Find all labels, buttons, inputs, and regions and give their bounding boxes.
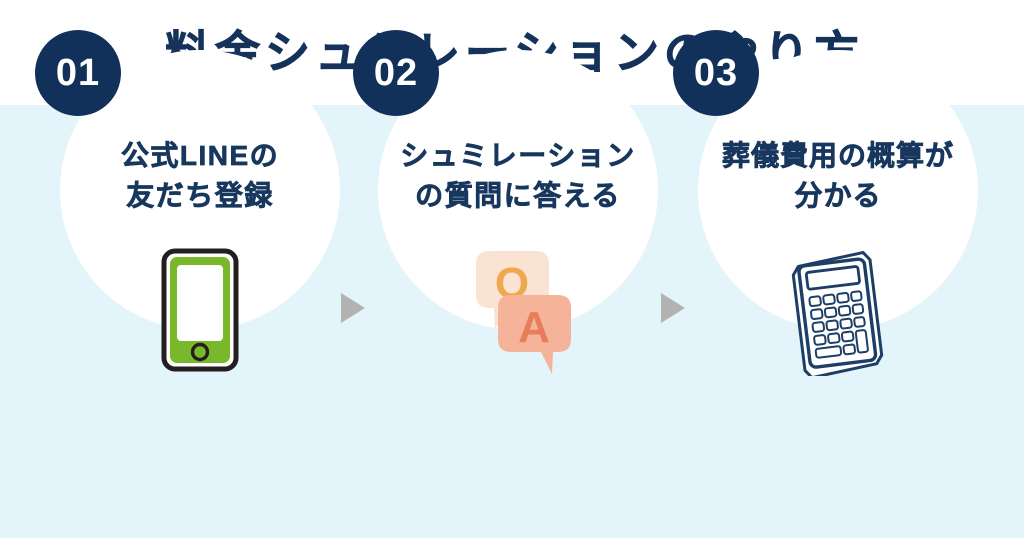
step-number-badge: 01 (35, 30, 121, 116)
step-label: 葬儀費用の概算が 分かる (682, 136, 994, 216)
step-card-02: Q A 02 シュミレーション の質問に答える (378, 50, 658, 334)
svg-text:A: A (518, 303, 550, 352)
calculator-icon (698, 246, 978, 376)
funnel-infographic: 料金シュミレーションのやり方 01 公式LINEの 友だち登録 Q (0, 0, 1024, 538)
qa-speech-bubbles-icon: Q A (378, 246, 658, 376)
step-arrow-1-to-2 (341, 293, 365, 323)
step-label: 公式LINEの 友だち登録 (44, 136, 356, 216)
step-number-badge: 02 (353, 30, 439, 116)
smartphone-icon (60, 246, 340, 376)
step-card-01: 01 公式LINEの 友だち登録 (60, 50, 340, 334)
step-card-03: 03 葬儀費用の概算が 分かる (698, 50, 978, 334)
step-number-badge: 03 (673, 30, 759, 116)
step-arrow-2-to-3 (661, 293, 685, 323)
step-label: シュミレーション の質問に答える (362, 136, 674, 216)
